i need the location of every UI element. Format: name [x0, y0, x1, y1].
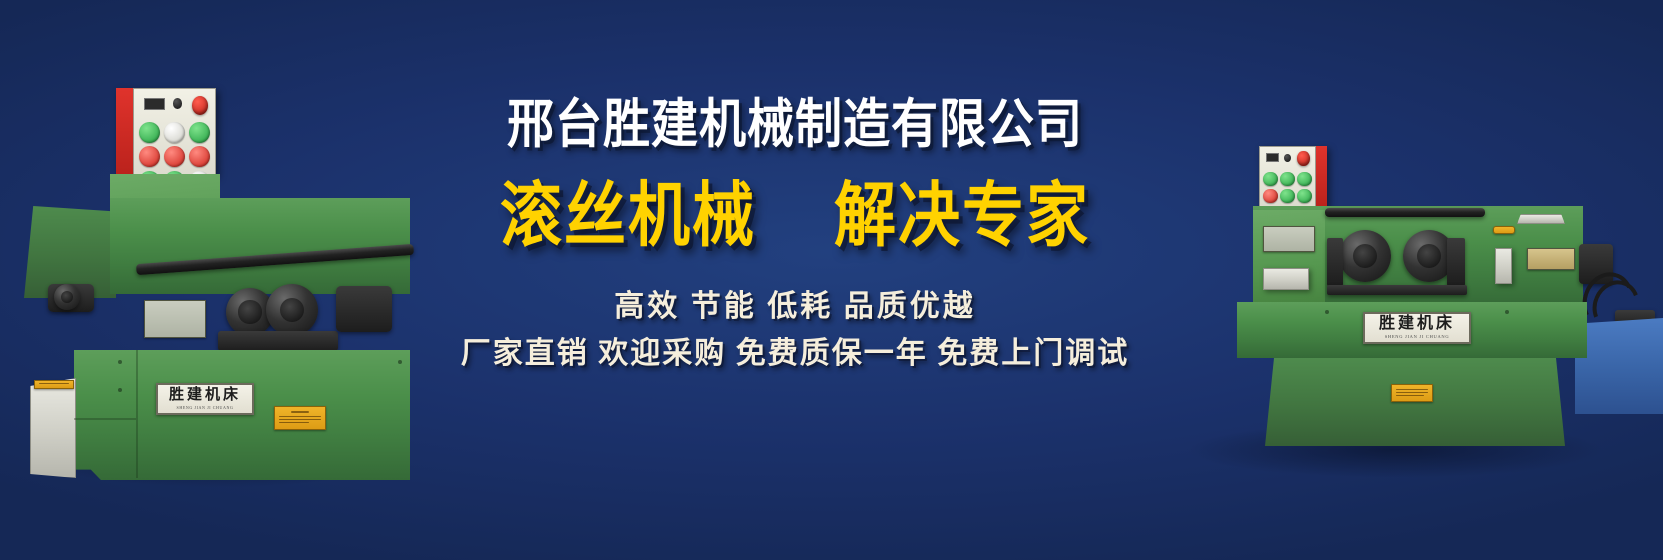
electrical-cabinet-left [30, 378, 76, 478]
panel-seam [74, 418, 136, 420]
bolt [1505, 310, 1509, 314]
work-rest-blade [1327, 285, 1467, 295]
tagline-line-2: 厂家直销 欢迎采购 免费质保一年 免费上门调试 [390, 331, 1200, 378]
lamp-red[interactable] [139, 146, 160, 167]
roller-slide-right [1447, 238, 1465, 286]
lamp-red[interactable] [189, 146, 210, 167]
emergency-stop-icon[interactable] [192, 96, 208, 115]
roller-die-2 [266, 284, 318, 336]
roller-mount-block [218, 331, 338, 351]
headline-right: 解决专家 [834, 179, 1090, 253]
thread-rolling-machine-right: 胜建机床 SHENG JIAN JI CHUANG [1175, 122, 1663, 462]
brand-nameplate-pinyin: SHENG JIAN JI CHUANG [1385, 335, 1450, 340]
warning-plate-right [1391, 384, 1433, 402]
bolt [118, 388, 122, 392]
spec-plate-right [1263, 226, 1315, 252]
roller-die-1 [1339, 230, 1391, 282]
info-plate-right [1263, 268, 1309, 290]
tagline-line-1: 高效 节能 低耗 品质优越 [390, 284, 1200, 331]
lamp-green[interactable] [1280, 189, 1294, 203]
control-panel-left[interactable] [116, 88, 216, 176]
brand-nameplate-left: 胜建机床 SHENG JIAN JI CHUANG [156, 383, 254, 415]
top-bracket [1517, 214, 1565, 224]
coolant-valve-icon [1495, 248, 1512, 284]
brand-nameplate-text: 胜建机床 [1379, 316, 1455, 332]
brand-nameplate-right: 胜建机床 SHENG JIAN JI CHUANG [1363, 312, 1471, 344]
panel-side-red [116, 88, 133, 176]
selector-knob-icon[interactable] [173, 98, 182, 108]
button-grid[interactable] [139, 122, 210, 168]
bearing-hub-left [54, 284, 80, 310]
lamp-white[interactable] [164, 122, 185, 143]
panel-seam [136, 350, 138, 478]
headline-left: 滚丝机械 [500, 179, 756, 253]
machine-upper-deck [110, 198, 410, 294]
roller-slide-left [1327, 238, 1343, 286]
machine-base-left [74, 350, 410, 480]
display-meter-icon [1266, 153, 1279, 162]
machine-pedestal-right [1265, 358, 1565, 446]
banner-text-block: 邢台胜建机械制造有限公司 滚丝机械 解决专家 高效 节能 低耗 品质优越 厂家直… [390, 96, 1200, 377]
display-meter-icon [144, 98, 165, 110]
brand-nameplate-pinyin: SHENG JIAN JI CHUANG [177, 406, 234, 410]
button-grid[interactable] [1263, 172, 1311, 202]
headline-row: 滚丝机械 解决专家 [390, 179, 1200, 244]
spec-plate-right-side [1527, 248, 1575, 270]
lamp-green[interactable] [189, 122, 210, 143]
thread-rolling-machine-left: 胜建机床 SHENG JIAN JI CHUANG [18, 88, 418, 478]
hydraulic-tank [1575, 318, 1663, 414]
control-panel-right[interactable] [1259, 146, 1327, 208]
tie-rod-shaft [1325, 208, 1485, 217]
lamp-red[interactable] [164, 146, 185, 167]
company-name: 邢台胜建机械制造有限公司 [390, 96, 1200, 151]
spec-plate-left [144, 300, 206, 338]
cabinet-label-strip [34, 380, 74, 389]
lamp-green[interactable] [1263, 172, 1277, 186]
lamp-red[interactable] [1263, 189, 1277, 203]
panel-face [1259, 146, 1316, 208]
lamp-green[interactable] [1280, 172, 1294, 186]
tagline-block: 高效 节能 低耗 品质优越 厂家直销 欢迎采购 免费质保一年 免费上门调试 [390, 284, 1200, 377]
emergency-stop-icon[interactable] [1297, 151, 1309, 165]
lamp-green[interactable] [139, 122, 160, 143]
manifold-fitting-icon [1493, 226, 1515, 234]
selector-knob-icon[interactable] [1284, 154, 1291, 162]
panel-face [133, 88, 216, 176]
machine-left-column-right [1253, 210, 1325, 306]
panel-side-red [1316, 146, 1327, 208]
brand-nameplate-text: 胜建机床 [169, 388, 241, 403]
motor-housing-right [336, 286, 392, 332]
lamp-green[interactable] [1297, 189, 1311, 203]
warning-plate-left [274, 406, 326, 430]
lamp-green[interactable] [1297, 172, 1311, 186]
promo-banner: 胜建机床 SHENG JIAN JI CHUANG [0, 0, 1663, 560]
bolt [118, 360, 122, 364]
bolt [1325, 310, 1329, 314]
